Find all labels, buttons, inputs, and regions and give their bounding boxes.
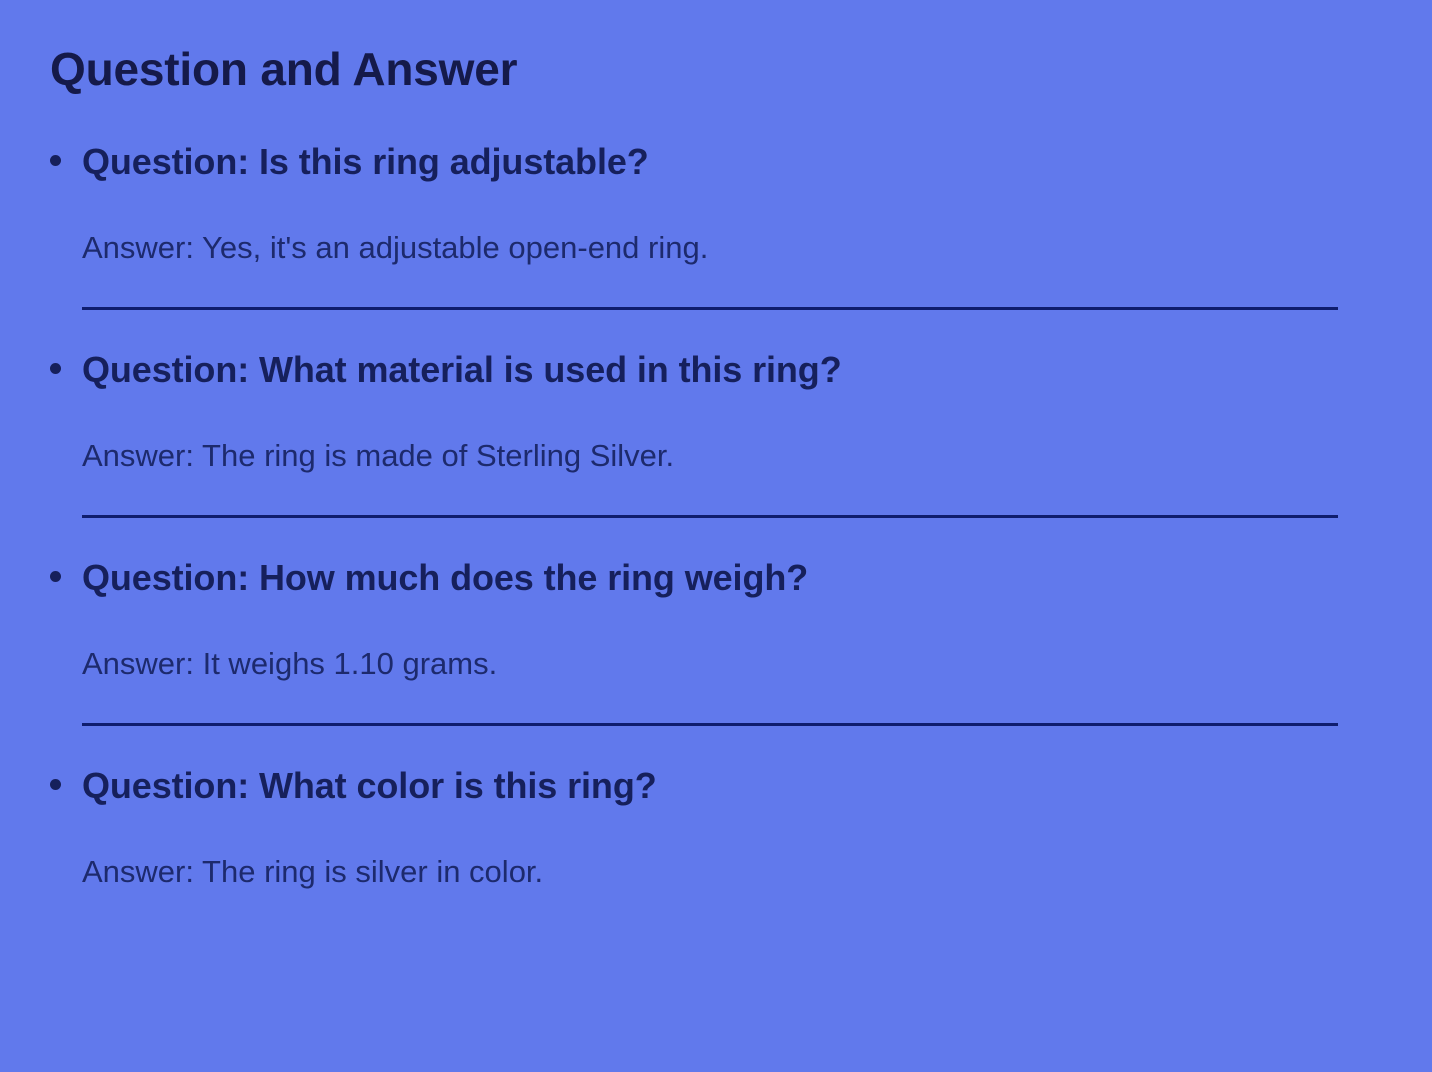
- qa-list-item: Question: What color is this ring? Answe…: [48, 762, 1384, 892]
- qa-question-text: Question: How much does the ring weigh?: [82, 554, 1384, 599]
- bullet-dot-icon: [50, 155, 61, 166]
- qa-question-text: Question: What color is this ring?: [82, 762, 1384, 807]
- qa-answer-text: Answer: The ring is silver in color.: [82, 807, 1384, 892]
- qa-question-text: Question: What material is used in this …: [82, 346, 1384, 391]
- qa-divider: [82, 515, 1338, 518]
- bullet-dot-icon: [50, 571, 61, 582]
- qa-list-item: Question: How much does the ring weigh? …: [48, 554, 1384, 726]
- qa-answer-text: Answer: The ring is made of Sterling Sil…: [82, 391, 1384, 476]
- bullet-dot-icon: [50, 363, 61, 374]
- page-title: Question and Answer: [48, 0, 1384, 96]
- qa-divider: [82, 307, 1338, 310]
- qa-question-text: Question: Is this ring adjustable?: [82, 138, 1384, 183]
- qa-list-item: Question: What material is used in this …: [48, 346, 1384, 518]
- question-answer-panel: Question and Answer Question: Is this ri…: [0, 0, 1432, 1072]
- bullet-dot-icon: [50, 779, 61, 790]
- qa-divider: [82, 723, 1338, 726]
- qa-list: Question: Is this ring adjustable? Answe…: [48, 96, 1384, 892]
- qa-answer-text: Answer: Yes, it's an adjustable open-end…: [82, 183, 1384, 268]
- qa-answer-text: Answer: It weighs 1.10 grams.: [82, 599, 1384, 684]
- qa-list-item: Question: Is this ring adjustable? Answe…: [48, 138, 1384, 310]
